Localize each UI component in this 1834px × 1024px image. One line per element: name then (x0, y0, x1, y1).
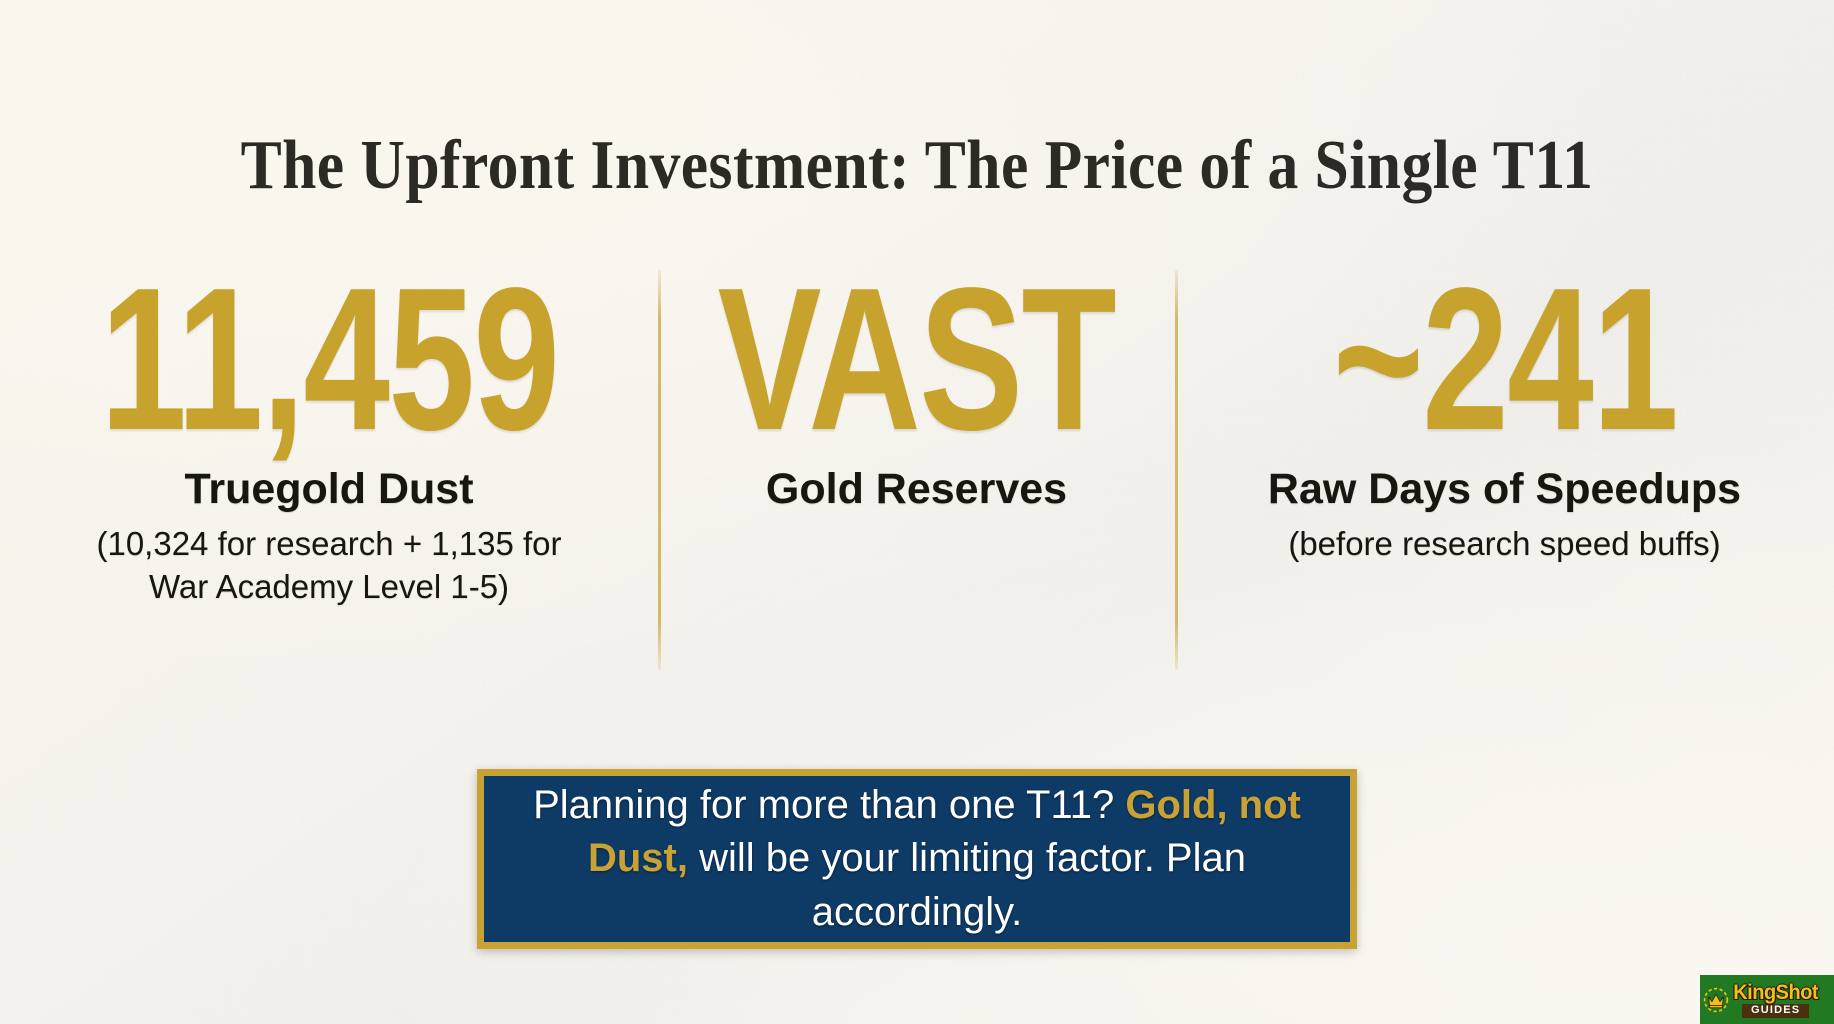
column-divider-left (658, 270, 661, 670)
stat-label: Truegold Dust (184, 466, 473, 513)
stats-row: 11,459 Truegold Dust (10,324 for researc… (0, 260, 1834, 680)
stat-value: 11,459 (100, 260, 558, 459)
stat-value: VAST (718, 260, 1115, 459)
stat-label: Raw Days of Speedups (1268, 466, 1741, 513)
stat-card-gold-reserves: VAST Gold Reserves (658, 260, 1175, 523)
callout-text: Planning for more than one T11? Gold, no… (484, 779, 1350, 940)
stat-card-raw-days-of-speedups: ~241 Raw Days of Speedups (before resear… (1175, 260, 1834, 566)
stat-card-truegold-dust: 11,459 Truegold Dust (10,324 for researc… (0, 260, 658, 608)
callout-tail-text: will be your limiting factor. Plan accor… (688, 836, 1246, 934)
logo-text-group: KingShot GUIDES (1731, 982, 1820, 1018)
kingshot-guides-logo: KingShot GUIDES (1700, 975, 1834, 1024)
logo-main-text: KingShot (1733, 982, 1818, 1003)
callout-box: Planning for more than one T11? Gold, no… (477, 769, 1357, 949)
logo-sub-text: GUIDES (1742, 1004, 1809, 1018)
stat-note: (10,324 for research + 1,135 for War Aca… (70, 523, 588, 607)
page-title: The Upfront Investment: The Price of a S… (110, 129, 1724, 203)
column-divider-right (1175, 270, 1178, 670)
stat-label: Gold Reserves (766, 466, 1067, 513)
callout-lead-text: Planning for more than one T11? (533, 783, 1125, 827)
stat-note: (before research speed buffs) (1288, 523, 1720, 565)
crown-icon (1703, 987, 1729, 1013)
slide-canvas: The Upfront Investment: The Price of a S… (0, 0, 1834, 1024)
stat-value: ~241 (1332, 260, 1676, 459)
